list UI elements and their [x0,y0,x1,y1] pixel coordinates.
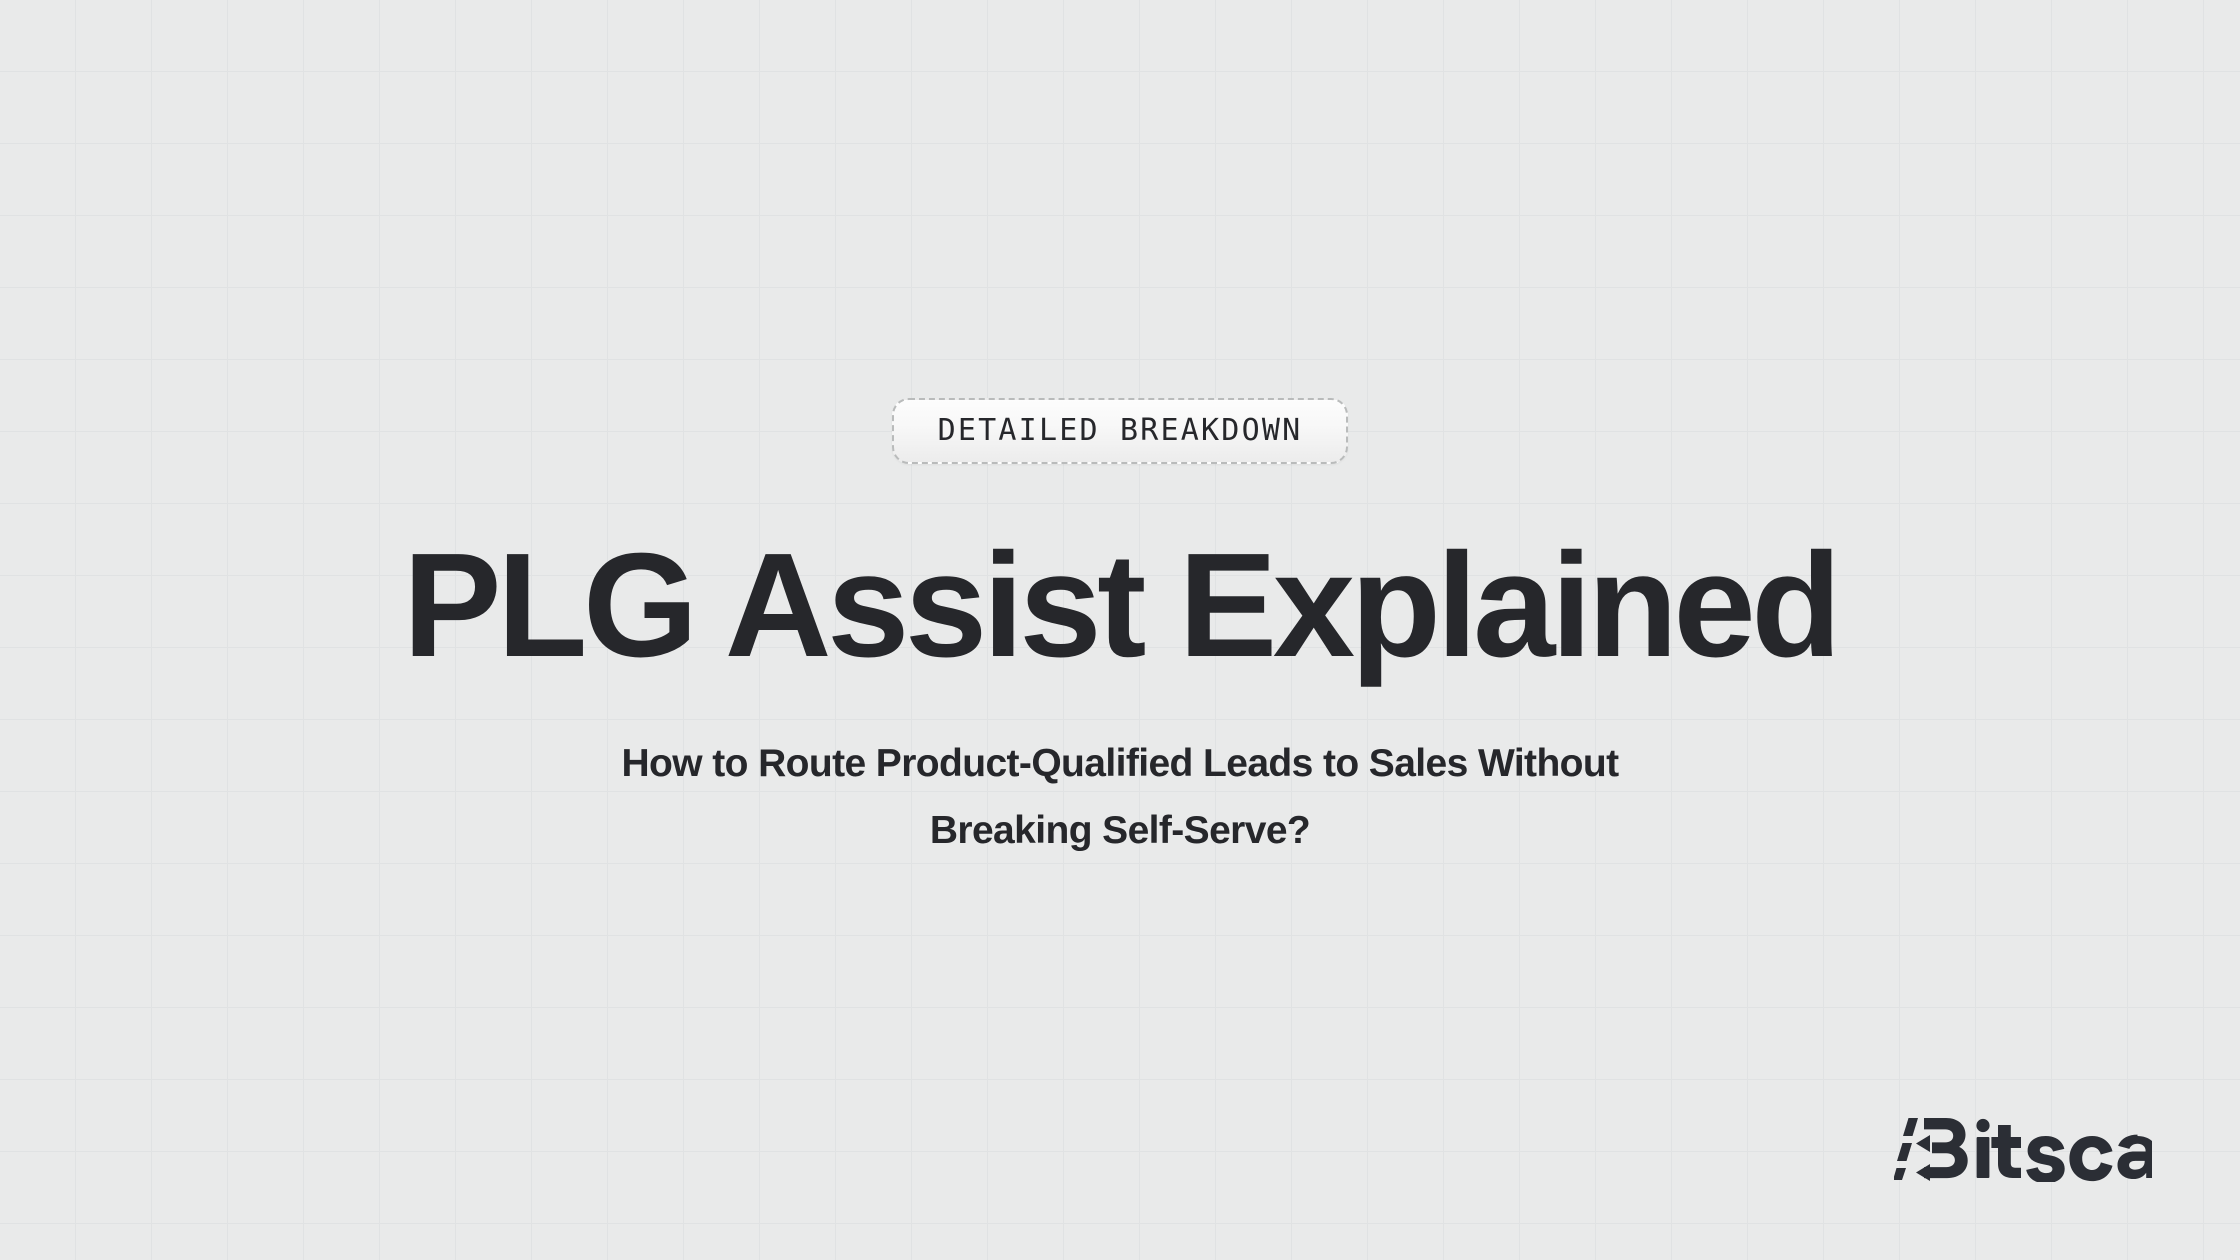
page-subtitle: How to Route Product-Qualified Leads to … [500,730,1740,864]
brand-logo [1894,1110,2152,1182]
page-subtitle-line-1: How to Route Product-Qualified Leads to … [621,742,1618,785]
hero-section: DETAILED BREAKDOWN PLG Assist Explained … [0,0,2240,1260]
page-title: PLG Assist Explained [403,532,1837,680]
eyebrow-badge-label: DETAILED BREAKDOWN [938,416,1303,446]
page-subtitle-line-2: Breaking Self-Serve? [930,809,1310,852]
bitscale-logo-icon [1894,1110,2152,1182]
eyebrow-badge: DETAILED BREAKDOWN [892,398,1349,464]
